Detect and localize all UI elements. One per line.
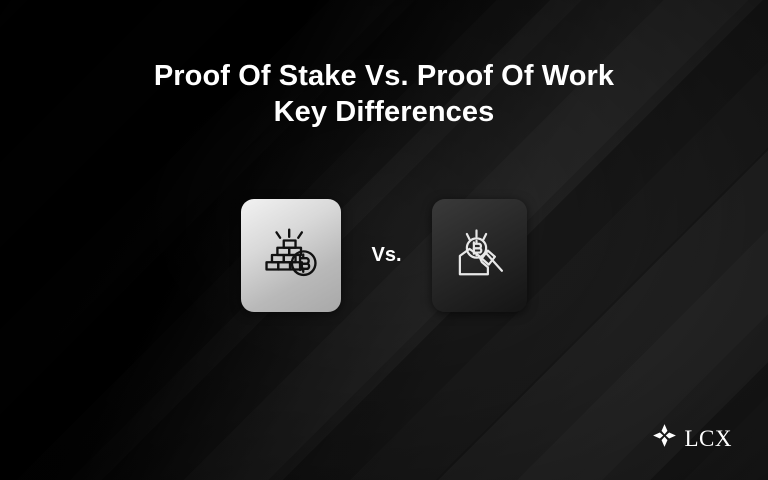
- lcx-logo: LCX: [651, 422, 733, 454]
- title-block: Proof Of Stake Vs. Proof Of Work Key Dif…: [0, 58, 768, 130]
- card-proof-of-work: [432, 199, 527, 312]
- card-proof-of-stake: [241, 199, 341, 312]
- stacked-coins-bitcoin-icon: [262, 226, 320, 284]
- lcx-star-logo-icon: [651, 422, 678, 454]
- comparison-row: Vs.: [0, 198, 768, 312]
- title-line-secondary: Key Differences: [0, 94, 768, 130]
- title-line-primary: Proof Of Stake Vs. Proof Of Work: [0, 58, 768, 94]
- banner-root: Proof Of Stake Vs. Proof Of Work Key Dif…: [0, 0, 768, 480]
- bitcoin-mining-pickaxe-icon: [452, 227, 508, 283]
- versus-label: Vs.: [341, 244, 432, 267]
- lcx-wordmark: LCX: [685, 427, 733, 450]
